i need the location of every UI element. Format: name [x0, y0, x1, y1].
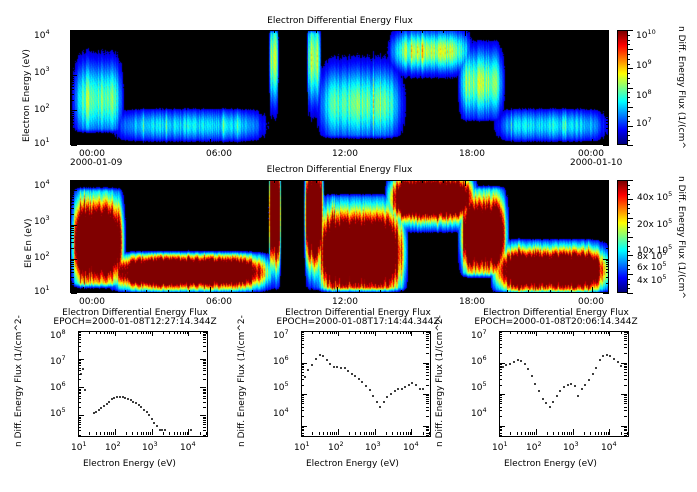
tick-mark: [301, 347, 304, 348]
tick-mark: [210, 287, 211, 293]
data-point: [358, 378, 360, 380]
tick-mark: [359, 290, 360, 293]
bottom-colorbar-tick-1: 20x 105: [637, 220, 672, 230]
tick-mark: [71, 230, 74, 231]
tick-mark: [312, 331, 313, 334]
tick-mark: [301, 401, 304, 402]
tick-mark: [148, 432, 149, 435]
data-point: [322, 355, 324, 357]
tick-mark: [606, 86, 609, 87]
tick-mark: [323, 432, 324, 435]
tick-mark: [443, 142, 444, 145]
tick-mark: [301, 435, 304, 436]
tick-mark: [132, 432, 133, 435]
tick-mark: [606, 262, 609, 263]
tick-mark: [624, 366, 627, 367]
tick-mark: [627, 44, 630, 45]
tick-mark: [606, 277, 609, 278]
data-point: [153, 422, 155, 424]
tick-mark: [107, 432, 108, 435]
tick-mark: [392, 432, 393, 435]
tick-mark: [231, 142, 232, 145]
tick-mark: [499, 364, 502, 365]
tick-mark: [627, 145, 633, 146]
data-point: [602, 355, 604, 357]
tick-mark: [337, 180, 338, 186]
tick-mark: [604, 432, 605, 435]
data-point: [520, 360, 522, 362]
tick-mark: [301, 334, 304, 335]
tick-mark: [109, 432, 110, 435]
tick-mark: [426, 427, 429, 428]
tick-mark: [598, 432, 599, 435]
tick-mark: [301, 363, 307, 364]
tick-mark: [301, 410, 304, 411]
tick-mark: [132, 331, 133, 334]
tick-mark: [125, 180, 126, 183]
tick-mark: [301, 416, 304, 417]
top-ytick-3: 103: [34, 68, 50, 78]
tick-mark: [78, 418, 81, 419]
spectrum-2-xtick-3: 104: [403, 443, 419, 453]
data-point: [397, 388, 399, 390]
tick-mark: [78, 398, 81, 399]
tick-mark: [627, 269, 630, 270]
tick-mark: [174, 331, 175, 334]
tick-mark: [536, 331, 537, 336]
tick-mark: [553, 432, 554, 435]
tick-mark: [499, 366, 502, 367]
tick-mark: [627, 111, 630, 112]
tick-mark: [107, 331, 108, 334]
tick-mark: [571, 290, 572, 293]
tick-mark: [606, 194, 609, 195]
tick-mark: [426, 403, 429, 404]
tick-mark: [627, 73, 630, 74]
tick-mark: [422, 142, 423, 145]
data-point: [361, 381, 363, 383]
tick-mark: [397, 331, 398, 334]
tick-mark: [499, 331, 505, 332]
tick-mark: [83, 30, 84, 36]
tick-mark: [373, 331, 374, 334]
tick-mark: [528, 290, 529, 293]
tick-mark: [499, 372, 502, 373]
tick-mark: [203, 351, 206, 352]
tick-mark: [627, 260, 630, 261]
tick-mark: [627, 213, 630, 214]
tick-mark: [592, 180, 593, 186]
tick-mark: [627, 288, 630, 289]
data-point: [354, 375, 356, 377]
tick-mark: [423, 432, 424, 435]
tick-mark: [624, 397, 627, 398]
spectrum-3-xtick-3: 104: [601, 443, 617, 453]
tick-mark: [423, 363, 429, 364]
tick-mark: [301, 340, 304, 341]
tick-mark: [189, 30, 190, 33]
tick-mark: [571, 142, 572, 145]
tick-mark: [426, 430, 429, 431]
tick-mark: [100, 331, 101, 334]
tick-mark: [78, 435, 81, 436]
tick-mark: [115, 331, 116, 336]
bottom-xtick-3: 18:00: [459, 297, 485, 307]
tick-mark: [499, 430, 502, 431]
tick-mark: [71, 79, 74, 80]
data-point: [319, 354, 321, 356]
tick-mark: [426, 364, 429, 365]
tick-mark: [100, 432, 101, 435]
tick-mark: [203, 339, 206, 340]
tick-mark: [71, 248, 74, 249]
tick-mark: [499, 397, 502, 398]
spectrum-2-ytick-0: 107: [273, 331, 289, 341]
tick-mark: [319, 432, 320, 435]
tick-mark: [606, 42, 609, 43]
tick-mark: [150, 331, 151, 334]
top-xtick-2: 12:00: [332, 149, 358, 159]
tick-mark: [359, 180, 360, 183]
tick-mark: [401, 30, 402, 33]
tick-mark: [528, 432, 529, 435]
tick-mark: [78, 387, 84, 388]
tick-mark: [168, 290, 169, 293]
bottom-colorbar-label: n Diff. Energy Flux (1/(cm^: [676, 176, 686, 299]
tick-mark: [627, 116, 630, 117]
tick-mark: [375, 331, 376, 336]
tick-mark: [606, 77, 609, 78]
tick-mark: [143, 432, 144, 435]
tick-mark: [465, 287, 466, 293]
data-point: [119, 396, 121, 398]
tick-mark: [78, 362, 81, 363]
tick-mark: [78, 342, 81, 343]
tick-mark: [71, 124, 74, 125]
tick-mark: [78, 424, 81, 425]
tick-mark: [624, 369, 627, 370]
data-point: [552, 401, 554, 403]
tick-mark: [603, 293, 609, 294]
data-point: [620, 365, 622, 367]
tick-mark: [364, 331, 365, 334]
tick-mark: [355, 331, 356, 334]
spectrum-2-ytick-1: 106: [273, 357, 289, 367]
spectrum-3-xtick-1: 102: [526, 443, 542, 453]
tick-mark: [499, 367, 502, 368]
tick-mark: [525, 432, 526, 435]
tick-mark: [71, 262, 74, 263]
tick-mark: [71, 75, 77, 76]
tick-mark: [521, 331, 522, 334]
tick-mark: [78, 368, 81, 369]
tick-mark: [499, 435, 502, 436]
data-point: [340, 367, 342, 369]
bottom-ytick-2: 102: [34, 253, 50, 263]
data-point: [538, 390, 540, 392]
tick-mark: [562, 432, 563, 435]
tick-mark: [603, 40, 609, 41]
tick-mark: [71, 201, 74, 202]
tick-mark: [126, 331, 127, 334]
tick-mark: [78, 393, 81, 394]
data-point: [143, 409, 145, 411]
tick-mark: [203, 379, 206, 380]
tick-mark: [295, 30, 296, 33]
tick-mark: [301, 344, 304, 345]
tick-mark: [336, 331, 337, 334]
tick-mark: [606, 432, 607, 435]
tick-mark: [627, 293, 633, 294]
tick-mark: [71, 269, 74, 270]
tick-mark: [380, 290, 381, 293]
tick-mark: [71, 81, 74, 82]
data-point: [95, 411, 97, 413]
bottom-colorbar-tick-4: 6x 105: [637, 263, 667, 273]
tick-mark: [200, 432, 201, 435]
tick-mark: [408, 331, 409, 334]
bottom-spectrogram-frame: [70, 180, 609, 293]
tick-mark: [252, 290, 253, 293]
tick-mark: [567, 331, 568, 334]
tick-mark: [71, 266, 74, 267]
tick-mark: [603, 110, 609, 111]
tick-mark: [627, 232, 630, 233]
data-point: [527, 368, 529, 370]
tick-mark: [624, 427, 627, 428]
tick-mark: [627, 78, 630, 79]
tick-mark: [426, 344, 429, 345]
tick-mark: [332, 331, 333, 334]
tick-mark: [203, 362, 206, 363]
tick-mark: [71, 83, 74, 84]
tick-mark: [137, 331, 138, 334]
data-point: [595, 367, 597, 369]
tick-mark: [624, 340, 627, 341]
tick-mark: [301, 385, 304, 386]
tick-mark: [301, 366, 304, 367]
tick-mark: [71, 40, 77, 41]
tick-mark: [624, 430, 627, 431]
tick-mark: [624, 367, 627, 368]
tick-mark: [606, 201, 609, 202]
tick-mark: [627, 255, 633, 256]
tick-mark: [319, 331, 320, 334]
tick-mark: [627, 218, 633, 219]
tick-mark: [203, 402, 206, 403]
tick-mark: [185, 432, 186, 435]
tick-mark: [423, 331, 429, 332]
tick-mark: [316, 180, 317, 183]
tick-mark: [334, 432, 335, 435]
tick-mark: [71, 235, 74, 236]
tick-mark: [203, 332, 206, 333]
tick-mark: [606, 331, 607, 334]
tick-mark: [252, 30, 253, 33]
tick-mark: [443, 290, 444, 293]
tick-mark: [71, 77, 74, 78]
tick-mark: [606, 79, 609, 80]
tick-mark: [422, 180, 423, 183]
tick-mark: [183, 331, 184, 334]
tick-mark: [78, 422, 81, 423]
tick-mark: [332, 432, 333, 435]
tick-mark: [528, 142, 529, 145]
tick-mark: [606, 232, 609, 233]
tick-mark: [71, 264, 74, 265]
tick-mark: [386, 432, 387, 435]
data-point: [592, 373, 594, 375]
data-point: [304, 376, 306, 378]
data-point: [376, 401, 378, 403]
tick-mark: [550, 142, 551, 145]
tick-mark: [78, 417, 81, 418]
tick-mark: [203, 335, 206, 336]
tick-mark: [71, 114, 74, 115]
tick-mark: [274, 290, 275, 293]
tick-mark: [530, 432, 531, 435]
tick-mark: [606, 269, 609, 270]
tick-mark: [423, 426, 429, 427]
tick-mark: [606, 135, 609, 136]
tick-mark: [71, 48, 74, 49]
tick-mark: [499, 394, 505, 395]
tick-mark: [553, 331, 554, 334]
data-point: [584, 384, 586, 386]
tick-mark: [104, 290, 105, 293]
data-point: [122, 396, 124, 398]
data-point: [404, 386, 406, 388]
data-point: [422, 388, 424, 390]
tick-mark: [200, 387, 206, 388]
tick-mark: [627, 121, 630, 122]
tick-mark: [71, 272, 74, 273]
bottom-ytick-4: 104: [34, 181, 50, 191]
data-point: [326, 359, 328, 361]
tick-mark: [163, 432, 164, 435]
tick-mark: [371, 331, 372, 334]
tick-mark: [606, 114, 609, 115]
tick-mark: [301, 429, 304, 430]
tick-mark: [366, 331, 367, 334]
tick-mark: [627, 204, 630, 205]
tick-mark: [141, 331, 142, 334]
tick-mark: [89, 432, 90, 435]
tick-mark: [627, 227, 630, 228]
tick-mark: [327, 331, 328, 334]
spectrum-2-xlabel: Electron Energy (eV): [306, 459, 399, 469]
top-colorbar-tick-2: 108: [636, 91, 652, 101]
tick-mark: [443, 180, 444, 183]
tick-mark: [621, 426, 627, 427]
tick-mark: [168, 142, 169, 145]
tick-mark: [203, 342, 206, 343]
tick-mark: [401, 180, 402, 183]
tick-mark: [624, 332, 627, 333]
tick-mark: [330, 432, 331, 435]
tick-mark: [606, 196, 609, 197]
tick-mark: [78, 335, 81, 336]
tick-mark: [125, 30, 126, 33]
tick-mark: [603, 225, 609, 226]
tick-mark: [355, 432, 356, 435]
tick-mark: [323, 331, 324, 334]
tick-mark: [627, 194, 630, 195]
tick-mark: [627, 185, 630, 186]
tick-mark: [426, 410, 429, 411]
data-point: [148, 414, 150, 416]
tick-mark: [624, 399, 627, 400]
tick-mark: [78, 402, 81, 403]
tick-mark: [210, 139, 211, 145]
tick-mark: [349, 432, 350, 435]
data-point: [574, 385, 576, 387]
tick-mark: [573, 429, 574, 435]
tick-mark: [327, 432, 328, 435]
tick-mark: [83, 139, 84, 145]
tick-mark: [78, 374, 81, 375]
tick-mark: [71, 283, 74, 284]
tick-mark: [78, 389, 81, 390]
tick-mark: [78, 392, 81, 393]
tick-mark: [606, 89, 609, 90]
tick-mark: [71, 44, 74, 45]
tick-mark: [152, 429, 153, 435]
tick-mark: [301, 364, 304, 365]
tick-mark: [528, 30, 529, 33]
tick-mark: [71, 259, 77, 260]
data-point: [606, 354, 608, 356]
data-point: [365, 385, 367, 387]
tick-mark: [550, 180, 551, 183]
tick-mark: [627, 265, 630, 266]
tick-mark: [301, 397, 304, 398]
tick-mark: [525, 331, 526, 334]
tick-mark: [624, 347, 627, 348]
tick-mark: [203, 334, 206, 335]
tick-mark: [499, 338, 502, 339]
tick-mark: [104, 30, 105, 33]
tick-mark: [603, 145, 609, 146]
spectrum-1-ytick-3: 105: [50, 409, 66, 419]
data-point: [556, 395, 558, 397]
spectrum-1-xtick-3: 104: [180, 443, 196, 453]
tick-mark: [71, 54, 74, 55]
tick-mark: [627, 68, 633, 69]
data-point: [372, 395, 374, 397]
tick-mark: [606, 65, 609, 66]
tick-mark: [499, 407, 502, 408]
tick-mark: [606, 235, 609, 236]
data-point: [164, 429, 166, 431]
tick-mark: [606, 198, 609, 199]
tick-mark: [301, 399, 304, 400]
tick-mark: [200, 359, 206, 360]
tick-mark: [627, 126, 633, 127]
tick-mark: [606, 230, 609, 231]
tick-mark: [146, 30, 147, 33]
tick-mark: [517, 432, 518, 435]
tick-mark: [606, 100, 609, 101]
tick-mark: [592, 30, 593, 36]
tick-mark: [104, 331, 105, 334]
tick-mark: [627, 88, 633, 89]
data-point: [545, 402, 547, 404]
tick-mark: [231, 290, 232, 293]
tick-mark: [426, 429, 429, 430]
spectrum-1-plot: [78, 331, 208, 437]
tick-mark: [111, 331, 112, 334]
